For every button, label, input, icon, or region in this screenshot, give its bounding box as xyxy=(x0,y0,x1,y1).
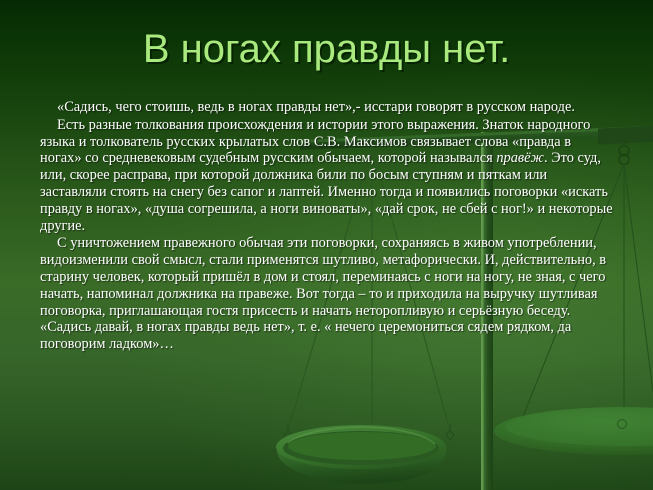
paragraph-1: «Садись, чего стоишь, ведь в ногах правд… xyxy=(40,99,614,116)
page-title: В ногах правды нет. xyxy=(0,26,653,72)
paragraph-2-italic-term: правёж xyxy=(496,150,544,166)
slide-content: В ногах правды нет. «Садись, чего стоишь… xyxy=(0,0,653,490)
paragraph-2: Есть разные толкования происхождения и и… xyxy=(40,117,614,235)
paragraph-3: С уничтожением правежного обычая эти пог… xyxy=(40,235,614,353)
presentation-slide: В ногах правды нет. «Садись, чего стоишь… xyxy=(0,0,653,490)
slide-body-text: «Садись, чего стоишь, ведь в ногах правд… xyxy=(40,99,614,353)
